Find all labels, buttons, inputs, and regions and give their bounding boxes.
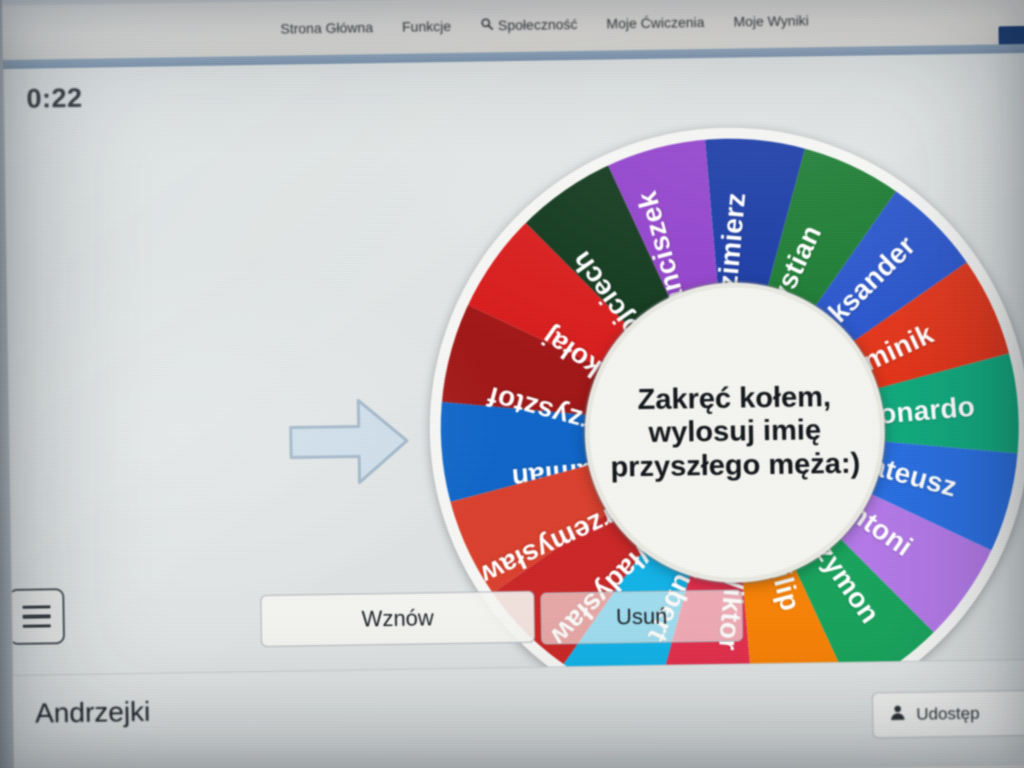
share-button[interactable]: Udostęp — [872, 690, 1024, 739]
wheel-center-text: Zakręć kołem, wylosuj imię przyszłego mę… — [609, 380, 861, 485]
menu-line — [23, 615, 51, 619]
share-label: Udostęp — [916, 704, 980, 725]
monitor-photo: Nowa Era - portal nag... Elementarz odkr… — [0, 0, 1024, 768]
nav-item-spolecznosc[interactable]: Społeczność — [480, 16, 578, 34]
menu-line — [23, 624, 51, 628]
nav-label: Funkcje — [402, 18, 451, 35]
nav-label: Moje Wyniki — [733, 12, 809, 29]
nav-item-moje-wyniki[interactable]: Moje Wyniki — [733, 12, 809, 29]
nav-item-moje-cwiczenia[interactable]: Moje Ćwiczenia — [606, 14, 704, 32]
main-navigation: Strona Główna Funkcje Społeczność Moje Ć… — [280, 0, 809, 56]
activity-canvas: 0:22 DamianKrzysztofMikołajWojciechFranc… — [3, 53, 1024, 675]
nav-label: Społeczność — [498, 16, 578, 33]
menu-line — [22, 605, 50, 609]
right-arrow-icon — [286, 393, 413, 496]
nav-item-funkcje[interactable]: Funkcje — [402, 18, 451, 35]
hamburger-menu-icon[interactable] — [8, 588, 65, 645]
screen-content: Nowa Era - portal nag... Elementarz odkr… — [0, 0, 1024, 768]
person-icon — [889, 704, 906, 726]
nav-label: Strona Główna — [280, 19, 373, 36]
delete-button[interactable]: Usuń — [540, 589, 743, 644]
nav-label: Moje Ćwiczenia — [606, 14, 704, 32]
resume-button[interactable]: Wznów — [260, 591, 535, 647]
search-icon — [480, 17, 493, 33]
activity-title: Andrzejki — [35, 696, 151, 730]
nav-item-strona-glowna[interactable]: Strona Główna — [280, 19, 373, 36]
timer: 0:22 — [26, 83, 83, 115]
activity-footer: Andrzejki Udostęp — [13, 659, 1024, 768]
